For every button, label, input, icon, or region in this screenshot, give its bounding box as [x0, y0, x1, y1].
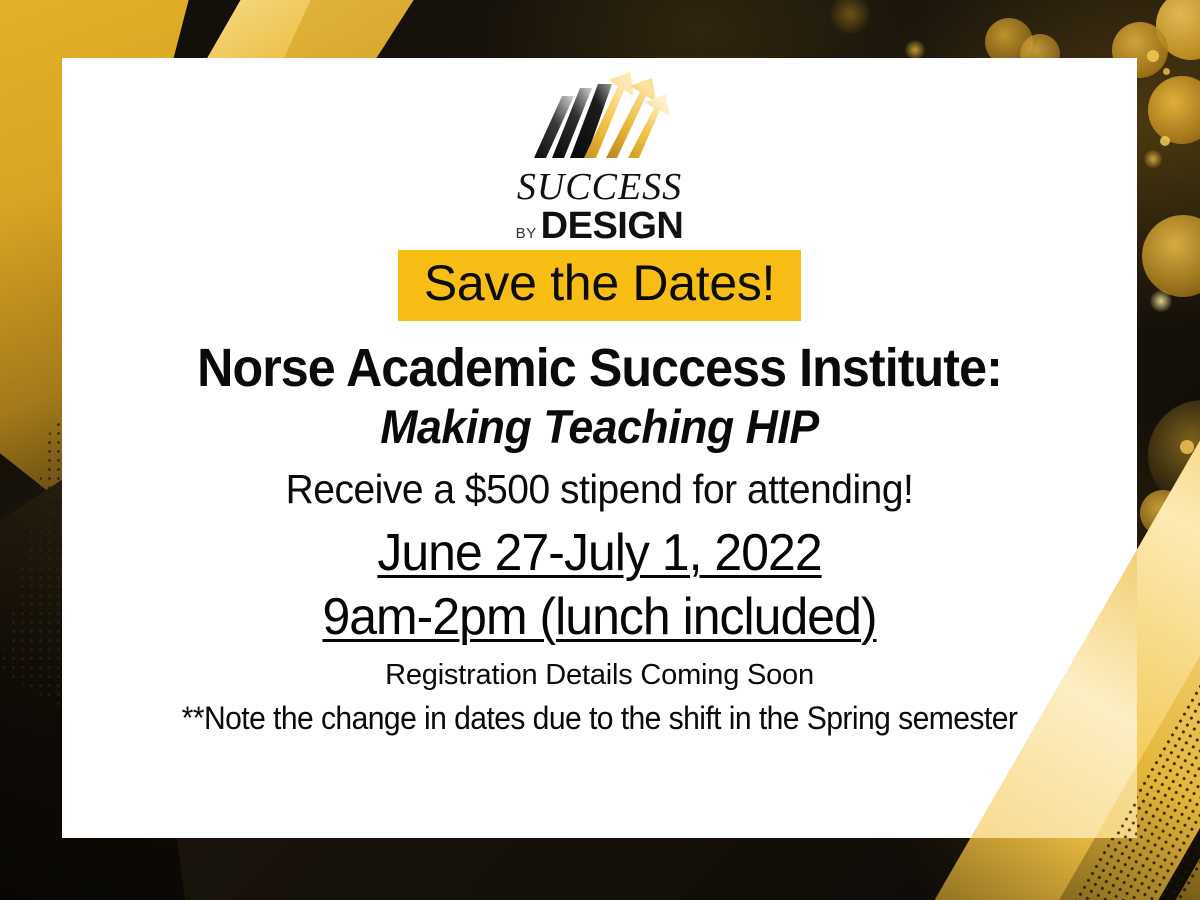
schedule-change-footnote: **Note the change in dates due to the sh…	[94, 700, 1105, 737]
logo-wordmark-success: SUCCESS	[500, 168, 700, 206]
event-date-range: June 27-July 1, 2022	[84, 522, 1116, 585]
poster-canvas: SUCCESS BY DESIGN Save the Dates! Norse …	[0, 0, 1200, 900]
stipend-text: Receive a $500 stipend for attending!	[89, 467, 1110, 512]
event-subheadline: Making Teaching HIP	[89, 401, 1110, 453]
registration-note: Registration Details Coming Soon	[62, 659, 1137, 692]
arrows-icon	[500, 66, 700, 166]
brand-logo: SUCCESS BY DESIGN	[500, 66, 700, 236]
save-the-dates-banner: Save the Dates!	[398, 250, 801, 321]
logo-word-by: BY	[516, 225, 537, 242]
logo-wordmark-design: DESIGN	[541, 207, 684, 245]
content-card: SUCCESS BY DESIGN Save the Dates! Norse …	[62, 58, 1137, 838]
event-headline: Norse Academic Success Institute:	[100, 339, 1100, 397]
event-time-range: 9am-2pm (lunch included)	[84, 586, 1116, 649]
save-the-dates-banner-wrap: Save the Dates!	[62, 250, 1137, 321]
